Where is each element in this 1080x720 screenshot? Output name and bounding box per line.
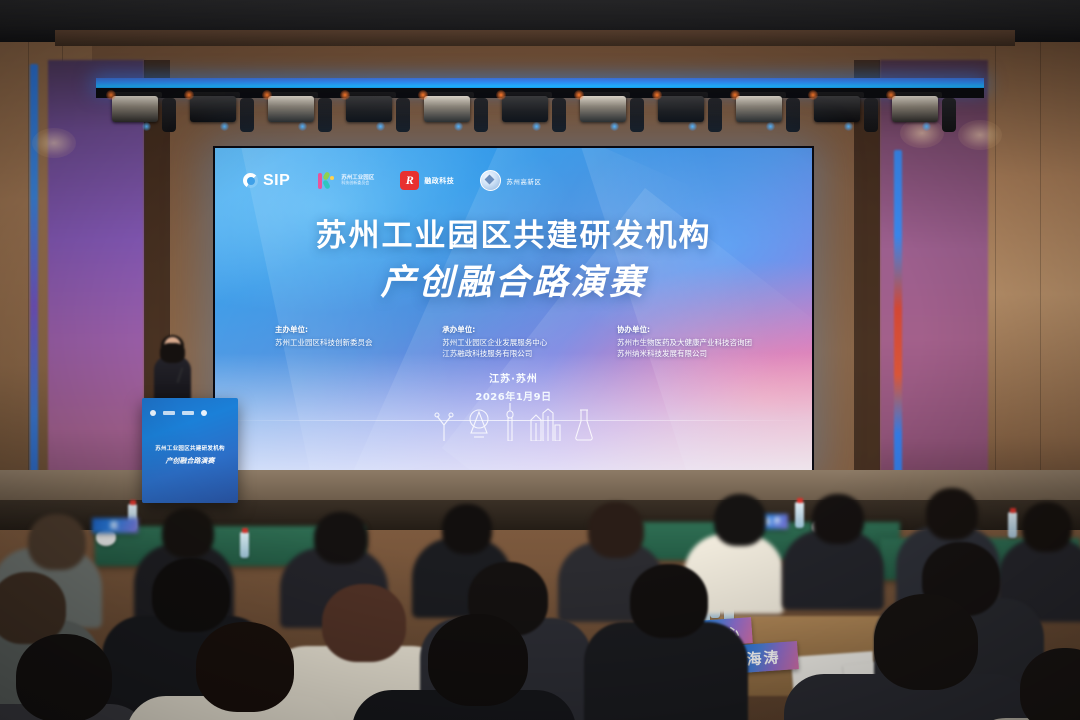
wall-spotlight [900,118,944,148]
water-bottle [795,502,804,528]
led-strip-left [30,64,38,504]
podium-k-icon [163,411,175,415]
podium-sip-icon [150,410,156,416]
podium-logo-row [150,410,207,416]
placard-partial-left: 技 [92,518,138,533]
skyline-icon [528,407,562,441]
podium-subtitle: 产创融合路演赛 [142,456,238,466]
water-bottle [240,532,249,558]
alcove-light-left [48,60,144,510]
event-title-sub: 产创融合路演赛 [215,254,812,305]
molecule-icon [434,411,454,441]
r-mark-icon: R [400,171,419,190]
wall-spotlight [958,120,1002,150]
podium-title: 苏州工业园区共建研发机构 [142,444,238,452]
flask-icon [574,409,594,441]
rongzheng-tech-logo: R 融政科技 [400,171,454,190]
wall-seam [995,36,996,506]
podium-r-icon [182,411,194,415]
screen-icon-strip [434,403,594,441]
wall-seam [1040,36,1041,506]
audience-area: 技 黄显齐 科招中心 贺海涛 [0,498,1080,720]
screen-logo-row: SIP 苏州工业园区 科技创新委员会 R 融政科 [243,170,541,191]
rongzheng-tech-logo-text: 融政科技 [424,176,454,186]
lightbulb-icon [466,407,492,441]
circular-emblem-icon [480,170,501,191]
sip-logo: SIP [243,172,290,190]
k-mark-icon [316,171,336,191]
podium-emblem-icon [201,410,207,416]
sip-swirl-icon [243,173,258,188]
led-strip-right [894,150,902,480]
ceiling-soffit [55,30,1015,46]
wall-seam [28,36,29,506]
sip-logo-text: SIP [263,172,290,190]
suzhou-industrial-park-logo-text: 苏州工业园区 科技创新委员会 [341,176,374,186]
led-stage-screen: SIP 苏州工业园区 科技创新委员会 R 融政科 [213,146,814,475]
suzhou-emblem-logo-text: 苏州高新区 [506,176,541,186]
suzhou-emblem-logo: 苏州高新区 [480,170,541,191]
podium: 苏州工业园区共建研发机构 产创融合路演赛 [142,398,238,503]
tower-icon [504,403,516,441]
conference-hall-photo: SIP 苏州工业园区 科技创新委员会 R 融政科 [0,0,1080,720]
wall-spotlight [32,128,76,158]
speaker-person [152,337,192,401]
event-title-main: 苏州工业园区共建研发机构 [215,210,812,255]
water-bottle [1008,512,1017,538]
suzhou-industrial-park-logo: 苏州工业园区 科技创新委员会 [316,171,374,191]
